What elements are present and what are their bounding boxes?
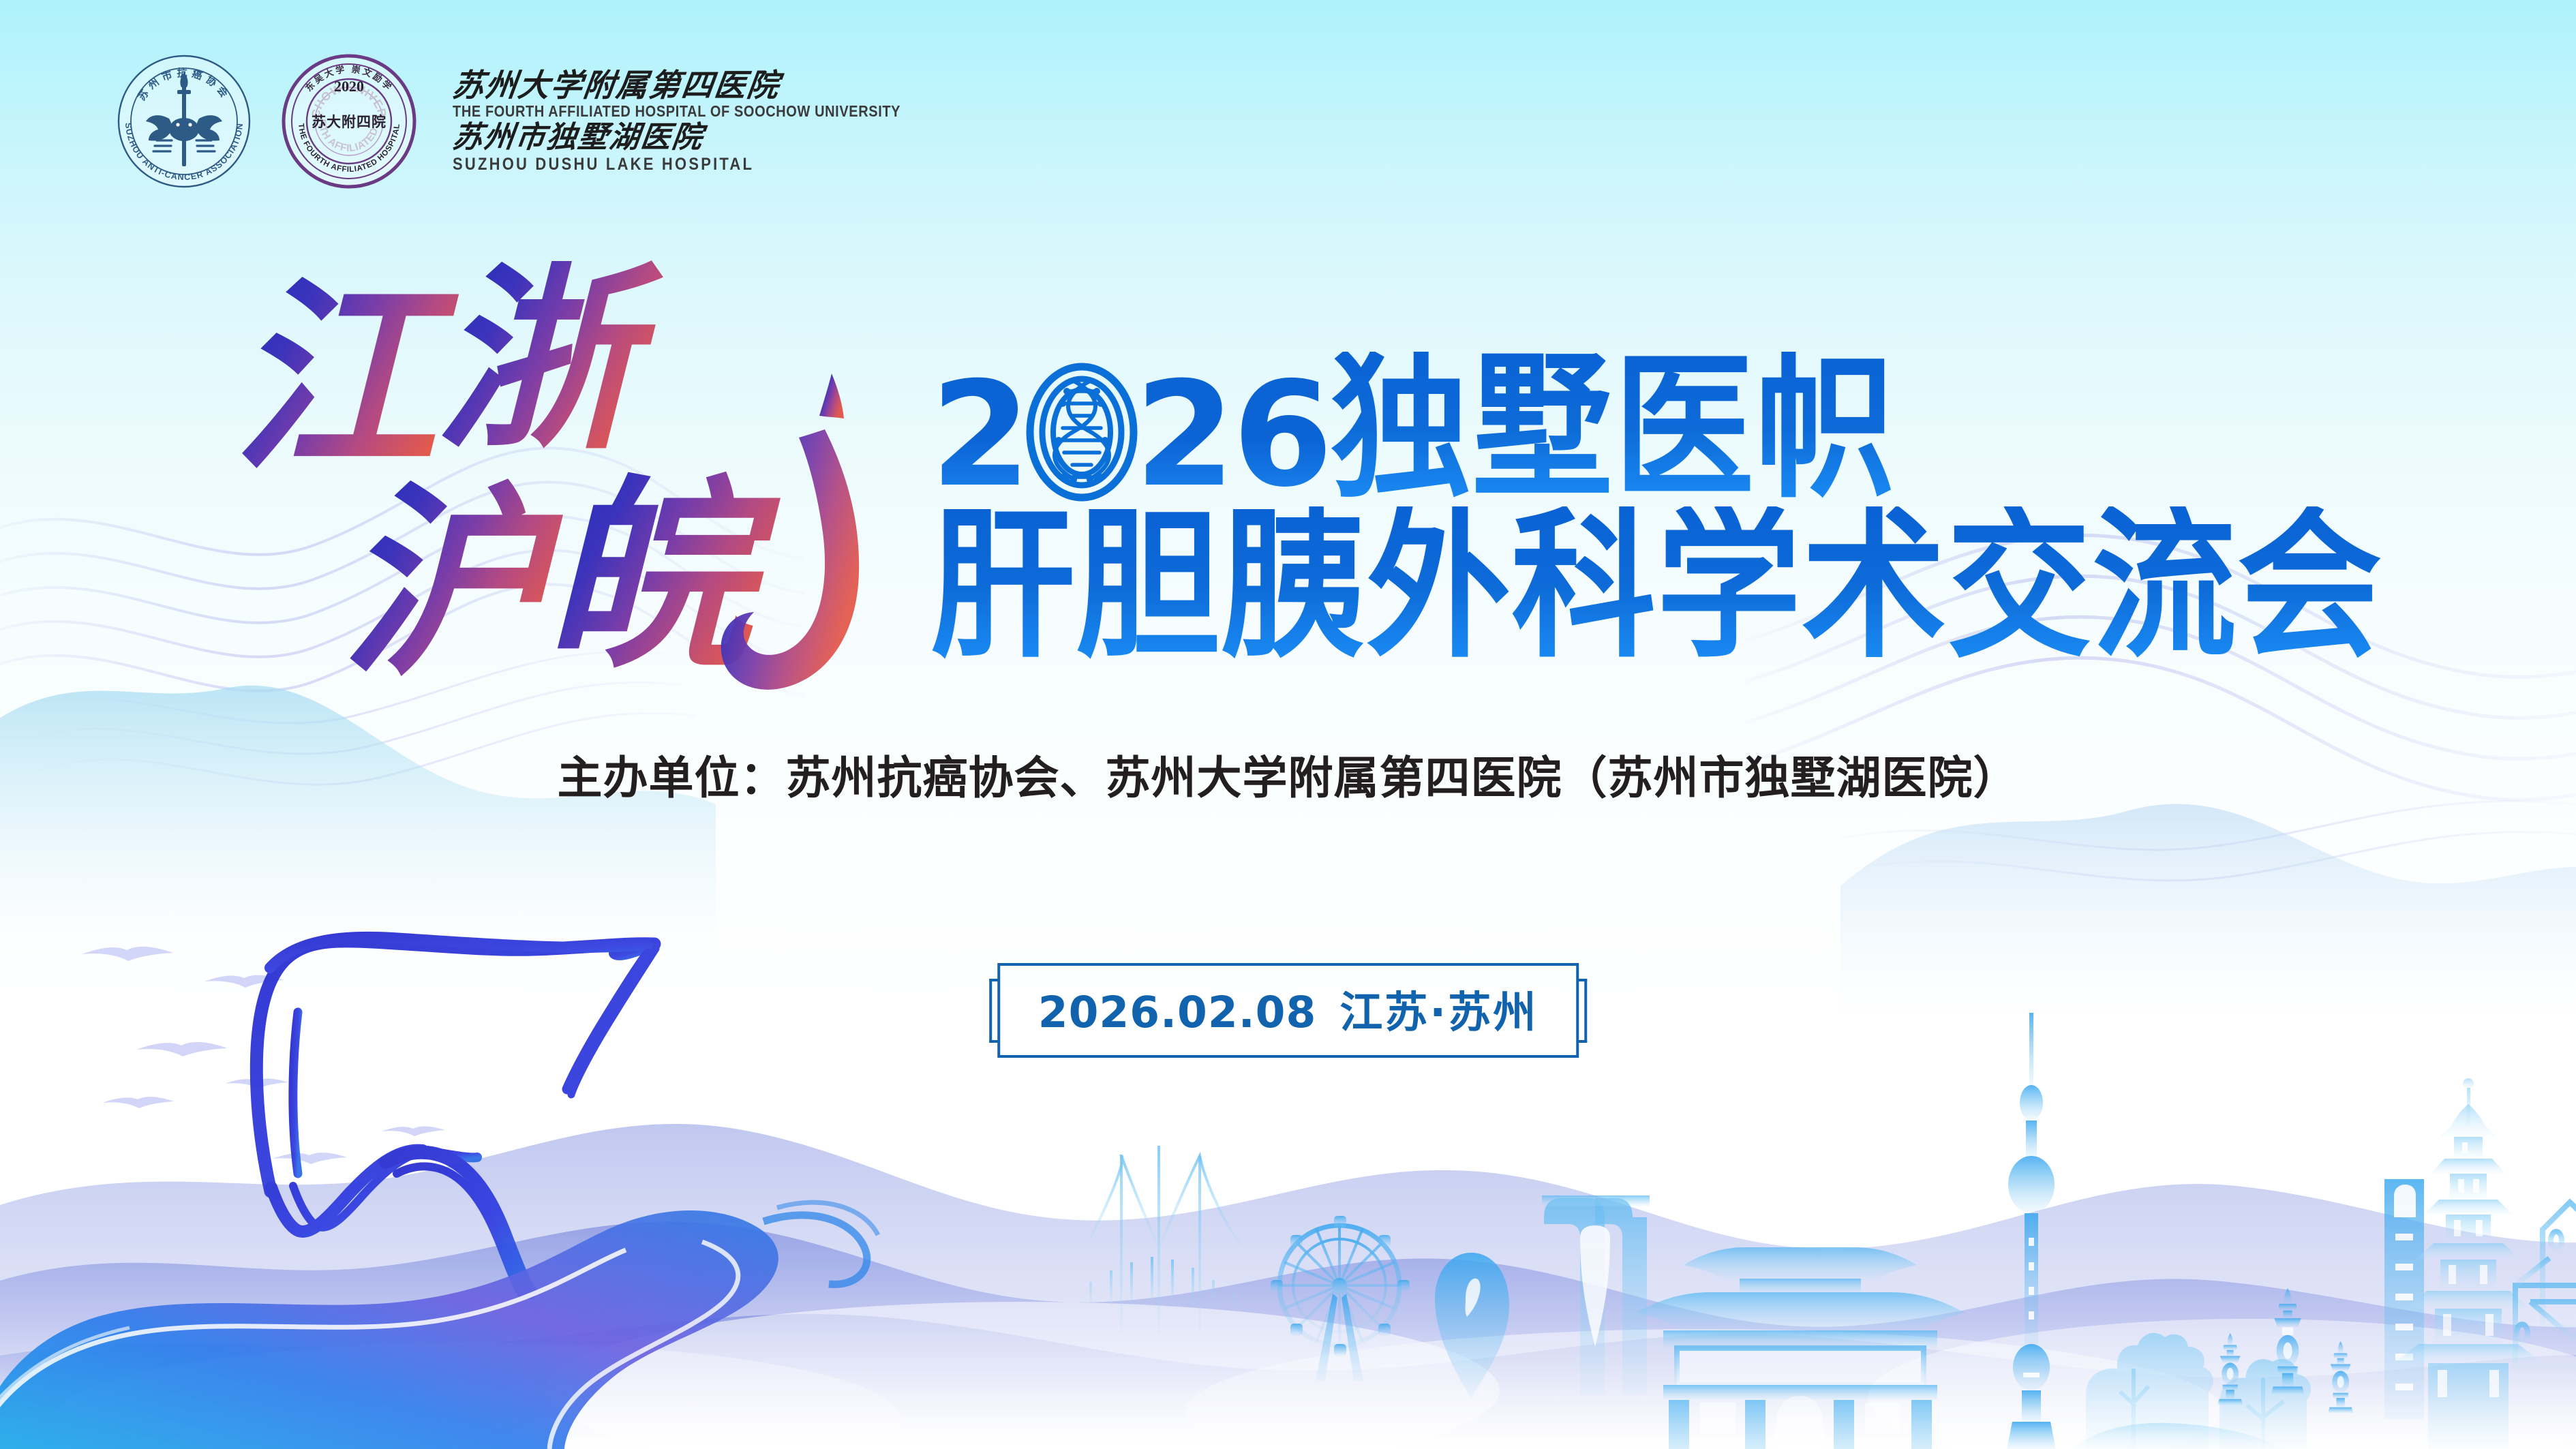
dna-helix-icon <box>1025 361 1139 506</box>
truss-gate-icon <box>2515 1202 2576 1367</box>
calligraphy-char-2: 浙 <box>436 254 665 472</box>
badge-frame: 2026.02.08江苏·苏州 <box>997 963 1579 1058</box>
hospital-en-name-2: SUZHOU DUSHU LAKE HOSPITAL <box>453 154 900 174</box>
calligraphy-char-3: 沪 <box>341 472 564 699</box>
hospital-cn-name-1: 苏州大学附属第四医院 <box>451 70 903 102</box>
logo-cn-center: 苏大附四院 <box>312 114 387 130</box>
title-year-digit-6: 6 <box>1232 364 1331 506</box>
calligraphy-char-1: 江 <box>232 268 462 494</box>
fourth-affiliated-hospital-logo: SOOCHOW UNIVERSITY THE FOURTH AFFILIATED… <box>281 53 417 189</box>
flying-birds-decoration <box>0 0 2576 1449</box>
liver-brush-outline <box>0 0 2576 1449</box>
oriental-pearl-tower-icon <box>2007 1013 2056 1449</box>
hospital-cn-name-2: 苏州市独墅湖医院 <box>451 123 903 153</box>
hospital-name-block: 苏州大学附属第四医院 THE FOURTH AFFILIATED HOSPITA… <box>453 70 900 173</box>
pagoda-icon <box>2394 1078 2543 1449</box>
badge-right-bracket <box>1577 979 1587 1043</box>
watercolor-mountains <box>0 0 2576 1449</box>
poster-canvas: 苏州市抗癌协会 SUZHOU ANTI-CANCER ASSOCIATION <box>0 0 2576 1449</box>
event-date-badge: 2026.02.08江苏·苏州 <box>989 963 1588 1058</box>
bonsai-garden-icon <box>2072 1333 2311 1449</box>
organizer-label: 主办单位：苏州抗癌协会、苏州大学附属第四医院（苏州市独墅湖医院） <box>558 742 2019 807</box>
main-title: 2 <box>930 361 2491 665</box>
suspension-bridge-icon <box>1063 1146 1268 1333</box>
calligraphy-jiangzhehuwan: 江 浙 沪 皖 <box>225 245 968 722</box>
paifang-gate-icon <box>1636 1247 1965 1449</box>
title-line-2: 肝胆胰外科学术交流会 <box>930 523 2491 665</box>
teardrop-sculpture-icon <box>1435 1253 1509 1399</box>
title-year-digit-2b: 2 <box>1135 364 1233 506</box>
city-skyline <box>0 1013 2576 1449</box>
event-date: 2026.02.08 <box>1038 988 1317 1037</box>
title-line-1: 2 <box>930 361 2491 506</box>
hospital-en-name-1: THE FOURTH AFFILIATED HOSPITAL OF SOOCHO… <box>453 103 900 121</box>
title-line2-cn: 肝胆胰外科学术交流会 <box>930 506 2382 665</box>
stone-lantern-icon <box>2217 1288 2353 1413</box>
gate-of-the-orient-icon <box>1542 1195 1650 1394</box>
event-location: 江苏·苏州 <box>1339 988 1538 1037</box>
ferris-wheel-icon <box>1271 1216 1410 1381</box>
title-line1-cn: 独墅医帜 <box>1331 352 1898 506</box>
wave-lines-decoration <box>0 0 2576 1449</box>
modern-tower-icon <box>2384 1179 2424 1419</box>
suzhou-anti-cancer-association-logo: 苏州市抗癌协会 SUZHOU ANTI-CANCER ASSOCIATION <box>116 53 252 189</box>
title-year-digit-2a: 2 <box>930 364 1029 506</box>
logo-bar: 苏州市抗癌协会 SUZHOU ANTI-CANCER ASSOCIATION <box>116 53 900 189</box>
logo-year: 2020 <box>334 78 364 95</box>
river-brush-stroke <box>0 0 2576 1449</box>
